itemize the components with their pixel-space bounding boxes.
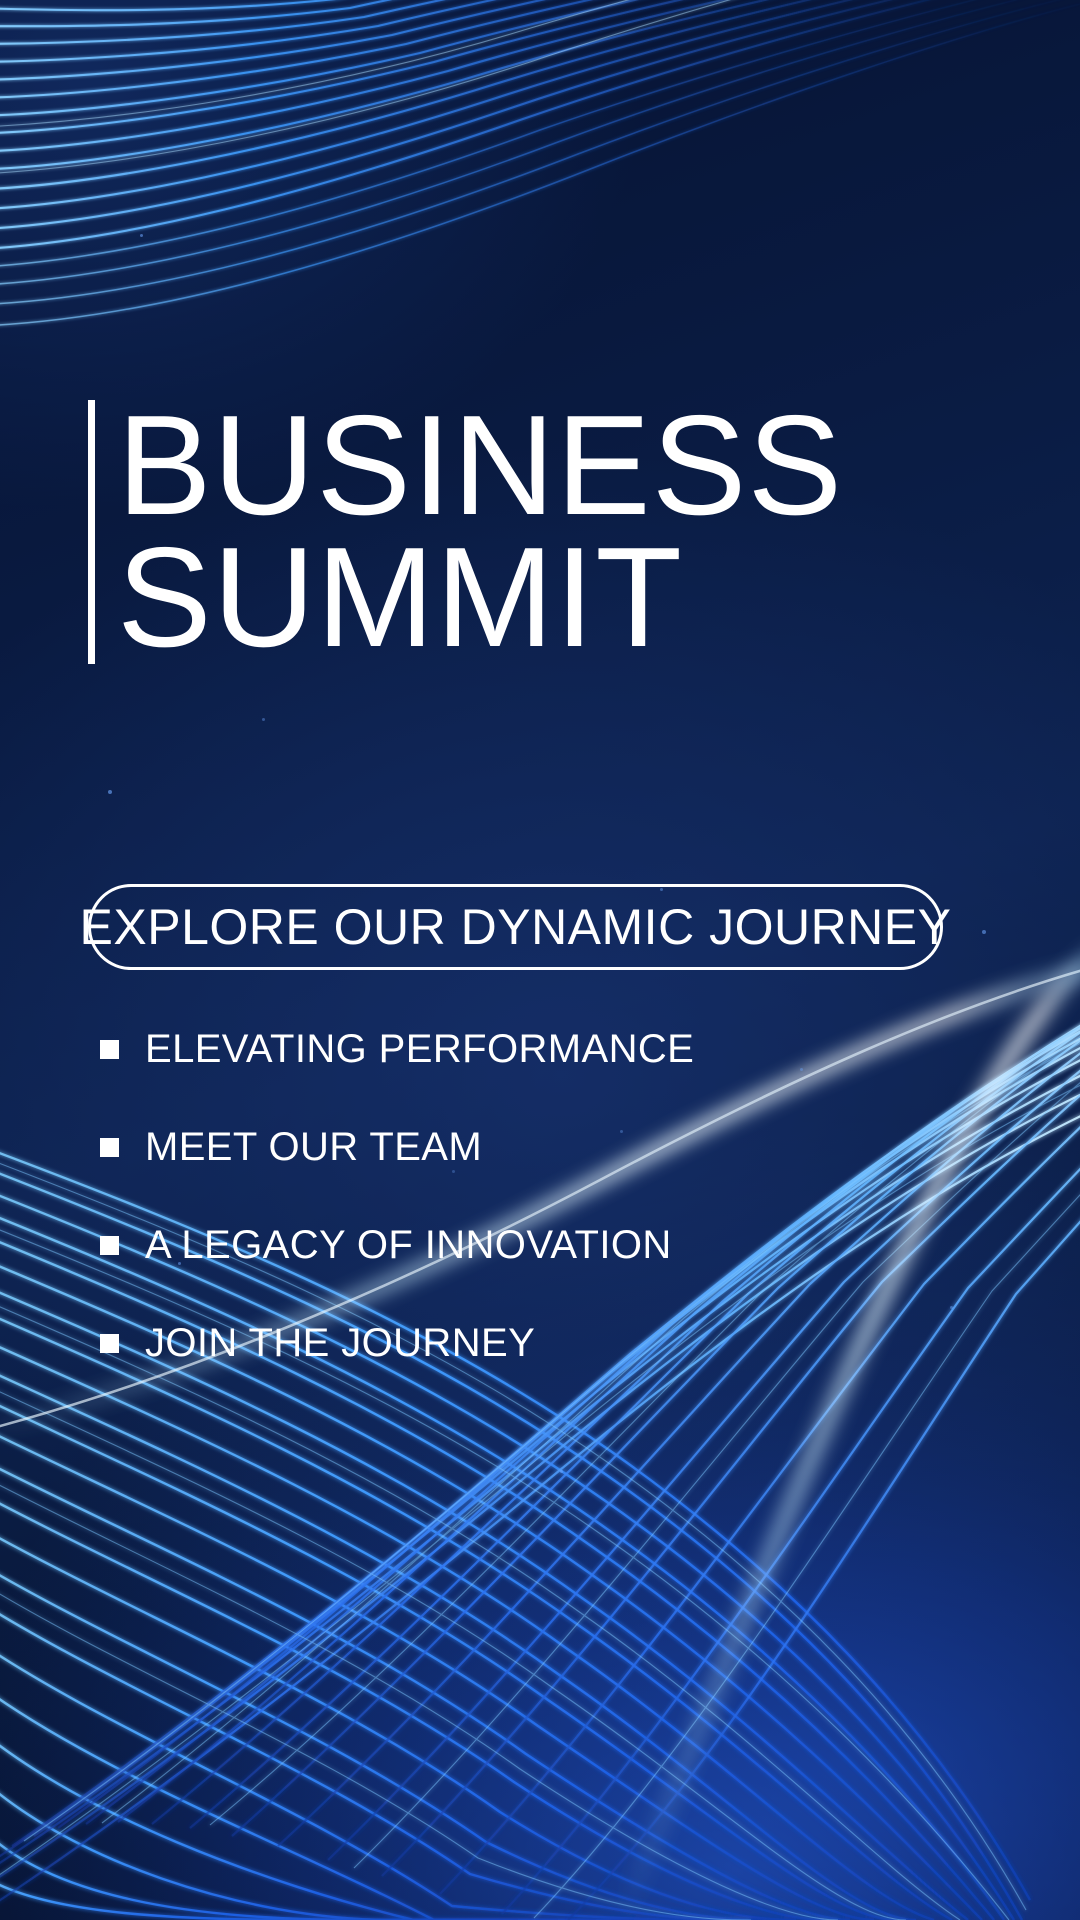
list-item-label: A LEGACY OF INNOVATION — [145, 1223, 672, 1268]
page-title: BUSINESS SUMMIT — [117, 400, 843, 664]
list-item-label: JOIN THE JOURNEY — [145, 1321, 535, 1366]
list-item[interactable]: JOIN THE JOURNEY — [100, 1304, 960, 1382]
list-item-label: ELEVATING PERFORMANCE — [145, 1027, 694, 1072]
explore-journey-button[interactable]: EXPLORE OUR DYNAMIC JOURNEY — [88, 884, 943, 970]
explore-journey-label: EXPLORE OUR DYNAMIC JOURNEY — [80, 898, 952, 956]
list-item[interactable]: ELEVATING PERFORMANCE — [100, 1010, 960, 1088]
list-item[interactable]: A LEGACY OF INNOVATION — [100, 1206, 960, 1284]
title-line-1: BUSINESS — [117, 400, 843, 532]
poster-content: BUSINESS SUMMIT EXPLORE OUR DYNAMIC JOUR… — [0, 0, 1080, 1920]
poster-canvas: BUSINESS SUMMIT EXPLORE OUR DYNAMIC JOUR… — [0, 0, 1080, 1920]
square-bullet-icon — [100, 1236, 119, 1255]
square-bullet-icon — [100, 1138, 119, 1157]
poster-title-block: BUSINESS SUMMIT — [88, 400, 843, 664]
title-line-2: SUMMIT — [117, 532, 843, 664]
square-bullet-icon — [100, 1040, 119, 1059]
square-bullet-icon — [100, 1334, 119, 1353]
list-item-label: MEET OUR TEAM — [145, 1125, 482, 1170]
highlights-list: ELEVATING PERFORMANCE MEET OUR TEAM A LE… — [100, 1010, 960, 1402]
list-item[interactable]: MEET OUR TEAM — [100, 1108, 960, 1186]
title-vertical-rule — [88, 400, 95, 664]
